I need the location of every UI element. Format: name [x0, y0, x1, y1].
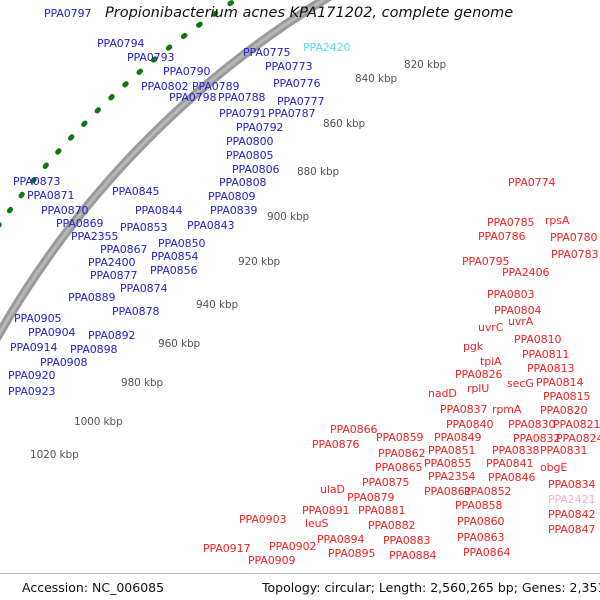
gene-label[interactable]: PPA0873 [13, 176, 60, 187]
gene-label[interactable]: PPA0837 [440, 404, 487, 415]
gene-label[interactable]: PPA0788 [218, 92, 265, 103]
scale-tick-label: 860 kbp [323, 119, 365, 130]
gene-label[interactable]: PPA0773 [265, 61, 312, 72]
gene-label[interactable]: PPA0810 [514, 334, 561, 345]
gene-label[interactable]: PPA0855 [424, 458, 471, 469]
gene-label[interactable]: obgE [540, 462, 567, 473]
gene-label[interactable]: PPA0775 [243, 47, 290, 58]
gene-label[interactable]: rpsA [545, 215, 569, 226]
genome-map-viewer: Propionibacterium acnes KPA171202, compl… [0, 0, 600, 600]
gene-label[interactable]: PPA0856 [150, 265, 197, 276]
gene-label[interactable]: PPA0895 [328, 548, 375, 559]
gene-label[interactable]: PPA0839 [210, 205, 257, 216]
gene-label[interactable]: PPA0884 [389, 550, 436, 561]
gene-label[interactable]: PPA0846 [488, 472, 535, 483]
gene-label[interactable]: rpmA [492, 404, 521, 415]
scale-tick-label: 920 kbp [238, 257, 280, 268]
gene-label[interactable]: leuS [305, 518, 328, 529]
gene-label[interactable]: PPA0923 [8, 386, 55, 397]
gene-label[interactable]: PPA0862 [378, 448, 425, 459]
gene-label[interactable]: PPA0814 [536, 377, 583, 388]
gene-label[interactable]: PPA0870 [41, 205, 88, 216]
gene-label[interactable]: PPA0786 [478, 231, 525, 242]
scale-tick-label: 940 kbp [196, 300, 238, 311]
gene-label[interactable]: PPA0876 [312, 439, 359, 450]
gene-label[interactable]: PPA0898 [70, 344, 117, 355]
gene-label[interactable]: ulaD [320, 484, 345, 495]
gene-label[interactable]: PPA0874 [120, 283, 167, 294]
gene-label[interactable]: PPA0864 [463, 547, 510, 558]
gene-label[interactable]: PPA0875 [362, 477, 409, 488]
gene-label[interactable]: PPA0806 [232, 164, 279, 175]
gene-label[interactable]: PPA0824 [556, 433, 600, 444]
gene-label[interactable]: PPA0843 [187, 220, 234, 231]
gene-label[interactable]: PPA0865 [375, 462, 422, 473]
gene-label[interactable]: PPA0820 [540, 405, 587, 416]
gene-label[interactable]: PPA2406 [502, 267, 549, 278]
gene-label[interactable]: PPA0917 [203, 543, 250, 554]
gene-label[interactable]: PPA0914 [10, 342, 57, 353]
scale-tick-label: 980 kbp [121, 378, 163, 389]
gene-label[interactable]: uvrA [508, 316, 533, 327]
gene-label[interactable]: PPA0852 [464, 486, 511, 497]
gene-label[interactable]: PPA0783 [551, 249, 598, 260]
scale-tick-label: 960 kbp [158, 339, 200, 350]
gene-label[interactable]: PPA2420 [303, 42, 350, 53]
gene-label[interactable]: PPA0842 [548, 509, 595, 520]
gene-label[interactable]: PPA0904 [28, 327, 75, 338]
gene-label[interactable]: PPA0882 [368, 520, 415, 531]
gene-label[interactable]: PPA0803 [487, 289, 534, 300]
topology-text: Topology: circular; Length: 2,560,265 bp… [262, 580, 600, 595]
gene-label[interactable]: PPA0844 [135, 205, 182, 216]
gene-label[interactable]: PPA0860 [457, 516, 504, 527]
gene-label[interactable]: PPA0909 [248, 555, 295, 566]
gene-label[interactable]: PPA0821 [553, 419, 600, 430]
scale-tick-label: 1020 kbp [30, 450, 79, 461]
gene-label[interactable]: PPA0908 [40, 357, 87, 368]
gene-label[interactable]: PPA0866 [330, 424, 377, 435]
gene-label[interactable]: tpiA [480, 356, 501, 367]
gene-label[interactable]: PPA0809 [208, 191, 255, 202]
gene-label[interactable]: PPA2421 [548, 494, 595, 505]
gene-label[interactable]: PPA2354 [428, 471, 475, 482]
gene-label[interactable]: PPA0858 [455, 500, 502, 511]
status-bar: Accession: NC_006085 Topology: circular;… [0, 573, 600, 600]
gene-label[interactable]: PPA0869 [56, 218, 103, 229]
gene-label[interactable]: PPA0790 [163, 66, 210, 77]
gene-label[interactable]: PPA0805 [226, 150, 273, 161]
gene-label[interactable]: PPA0792 [236, 122, 283, 133]
gene-label[interactable]: PPA0850 [158, 238, 205, 249]
gene-label[interactable]: PPA0891 [302, 505, 349, 516]
gene-label[interactable]: PPA0776 [273, 78, 320, 89]
gene-label[interactable]: PPA0794 [97, 38, 144, 49]
gene-label[interactable]: PPA0841 [486, 458, 533, 469]
gene-label[interactable]: PPA0905 [14, 313, 61, 324]
gene-label[interactable]: PPA0853 [120, 222, 167, 233]
gene-label[interactable]: PPA0849 [434, 432, 481, 443]
gene-label[interactable]: PPA0815 [543, 391, 590, 402]
gene-label[interactable]: PPA0831 [540, 445, 587, 456]
scale-tick-label: 840 kbp [355, 74, 397, 85]
gene-label[interactable]: PPA0840 [446, 419, 493, 430]
gene-label[interactable]: PPA0791 [219, 108, 266, 119]
scale-tick-label: 880 kbp [297, 167, 339, 178]
gene-label[interactable]: uvrC [478, 322, 503, 333]
gene-label[interactable]: PPA0889 [68, 292, 115, 303]
gene-label[interactable]: PPA0902 [269, 541, 316, 552]
gene-label[interactable]: PPA0883 [383, 535, 430, 546]
gene-label[interactable]: PPA0881 [358, 505, 405, 516]
accession-text: Accession: NC_006085 [22, 580, 164, 595]
gene-label[interactable]: PPA0894 [317, 534, 364, 545]
gene-label[interactable]: PPA2400 [88, 257, 135, 268]
gene-label[interactable]: PPA0863 [457, 532, 504, 543]
gene-label[interactable]: PPA0800 [226, 136, 273, 147]
gene-label[interactable]: PPA0787 [268, 108, 315, 119]
gene-label[interactable]: PPA0785 [487, 217, 534, 228]
gene-label[interactable]: PPA0879 [347, 492, 394, 503]
gene-label[interactable]: PPA0859 [376, 432, 423, 443]
scale-tick-label: 820 kbp [404, 60, 446, 71]
gene-label[interactable]: PPA0830 [508, 419, 555, 430]
gene-label[interactable]: PPA0877 [90, 270, 137, 281]
gene-label[interactable]: PPA2355 [71, 231, 118, 242]
gene-label[interactable]: PPA0867 [100, 244, 147, 255]
gene-label[interactable]: PPA0797 [44, 8, 91, 19]
gene-label[interactable]: PPA0871 [27, 190, 74, 201]
gene-label[interactable]: pgk [463, 341, 483, 352]
gene-label[interactable]: PPA0813 [527, 363, 574, 374]
gene-label[interactable]: PPA0838 [492, 445, 539, 456]
gene-label[interactable]: PPA0811 [522, 349, 569, 360]
gene-label[interactable]: rplU [467, 383, 489, 394]
gene-label[interactable]: secG [507, 378, 534, 389]
gene-label[interactable]: PPA0892 [88, 330, 135, 341]
gene-label[interactable]: PPA0777 [277, 96, 324, 107]
gene-label[interactable]: PPA0826 [455, 369, 502, 380]
scale-tick-label: 900 kbp [267, 212, 309, 223]
gene-label[interactable]: PPA0798 [169, 92, 216, 103]
page-title: Propionibacterium acnes KPA171202, compl… [105, 5, 513, 21]
gene-label[interactable]: PPA0851 [428, 445, 475, 456]
gene-label[interactable]: PPA0774 [508, 177, 555, 188]
gene-label[interactable]: PPA0903 [239, 514, 286, 525]
gene-label[interactable]: PPA0920 [8, 370, 55, 381]
gene-label[interactable]: nadD [428, 388, 457, 399]
gene-label[interactable]: PPA0808 [219, 177, 266, 188]
gene-label[interactable]: PPA0834 [548, 479, 595, 490]
gene-label[interactable]: PPA0878 [112, 306, 159, 317]
gene-label[interactable]: PPA0854 [151, 251, 198, 262]
scale-tick-label: 1000 kbp [74, 417, 123, 428]
gene-label[interactable]: PPA0793 [127, 52, 174, 63]
gene-label[interactable]: PPA0847 [548, 524, 595, 535]
gene-label[interactable]: PPA0832 [513, 433, 560, 444]
gene-label[interactable]: PPA0780 [550, 232, 597, 243]
gene-label[interactable]: PPA0845 [112, 186, 159, 197]
